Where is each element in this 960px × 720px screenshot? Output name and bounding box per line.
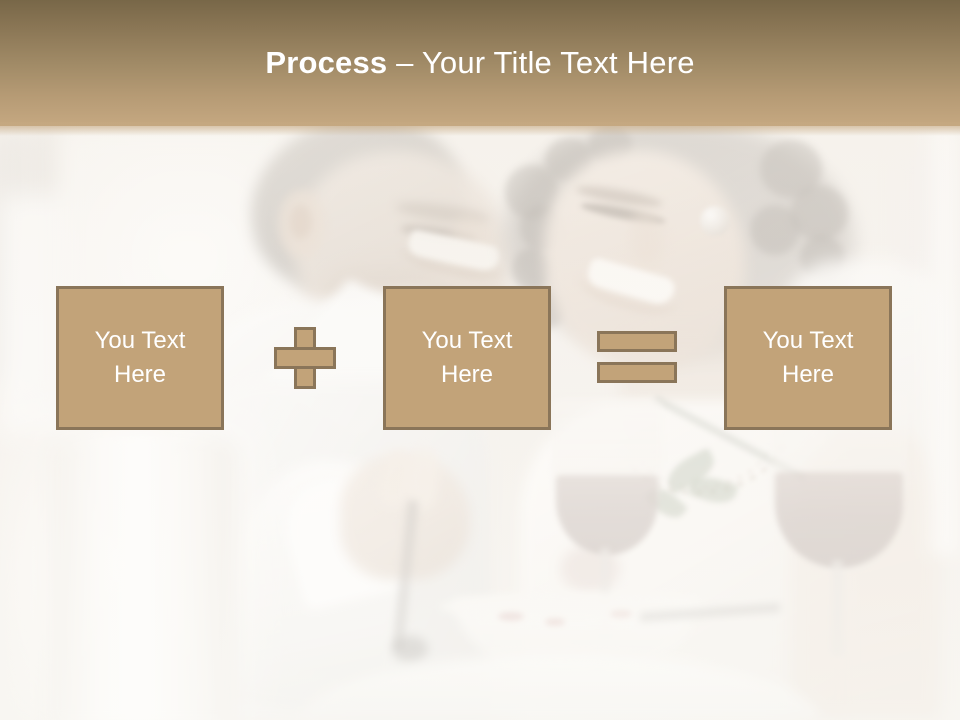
page-title-rest: – Your Title Text Here [387, 45, 694, 80]
slide-canvas: Process – Your Title Text Here You Text … [0, 0, 960, 720]
wine-glass-right-stem [832, 560, 843, 655]
equals-icon-bottom-bar [597, 362, 677, 383]
page-title-bold: Process [265, 45, 387, 80]
pearl-earring [700, 206, 730, 236]
process-box-3[interactable]: You Text Here [724, 286, 892, 430]
plus-icon-center [297, 350, 313, 366]
hair-curl [750, 205, 800, 255]
food-garnish [545, 618, 565, 626]
process-box-2-label: You Text Here [412, 324, 523, 392]
fork-tip [392, 636, 428, 662]
plus-icon [274, 327, 336, 389]
slide-header: Process – Your Title Text Here [0, 0, 960, 126]
background-highlight [920, 125, 960, 555]
food-garnish [498, 612, 524, 621]
man-ear-inner [290, 205, 312, 239]
process-box-1[interactable]: You Text Here [56, 286, 224, 430]
process-box-2[interactable]: You Text Here [383, 286, 551, 430]
white-candle [50, 430, 235, 720]
equals-icon-top-bar [597, 331, 677, 352]
equals-icon [597, 331, 677, 383]
food-garnish [610, 610, 632, 618]
woman-nose [630, 208, 664, 268]
process-box-1-label: You Text Here [85, 324, 196, 392]
process-box-3-label: You Text Here [753, 324, 864, 392]
page-title: Process – Your Title Text Here [265, 47, 694, 80]
